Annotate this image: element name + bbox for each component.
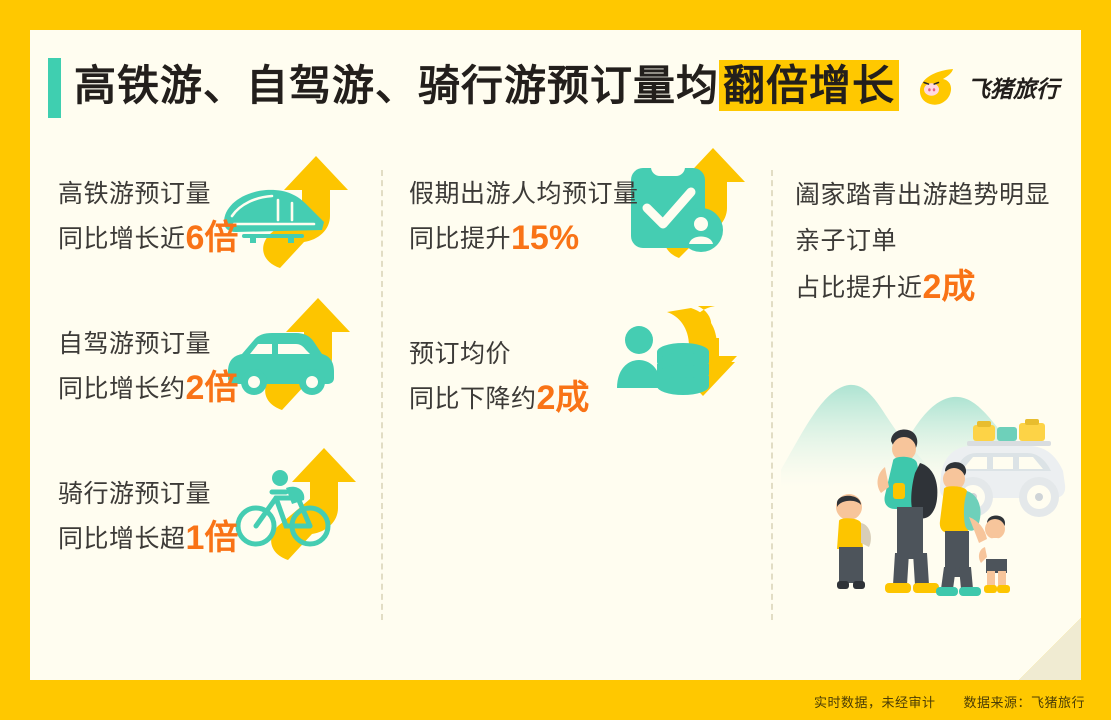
stat-line-1: 假期出游人均预订量 xyxy=(409,172,639,216)
content-card: 高铁游、自驾游、骑行游预订量均翻倍增长 飞猪旅行 xyxy=(30,30,1081,680)
stat-line-1: 高铁游预订量 xyxy=(58,172,238,216)
footer: 实时数据，未经审计 数据来源：飞猪旅行 xyxy=(814,692,1085,711)
column-booking-stats: 假期出游人均预订量 同比提升15% xyxy=(381,142,771,452)
family-with-car-illustration xyxy=(781,367,1081,622)
stat-item: 假期出游人均预订量 同比提升15% xyxy=(381,142,771,292)
fliggy-pig-icon xyxy=(917,68,959,106)
stat-line-2: 同比下降约2成 xyxy=(409,376,589,421)
footer-note: 实时数据，未经审计 xyxy=(814,692,936,711)
page-title: 高铁游、自驾游、骑行游预订量均翻倍增长 xyxy=(74,54,899,118)
stat-text: 自驾游预订量 同比增长约2倍 xyxy=(58,322,238,411)
stat-line-2-prefix: 同比增长近 xyxy=(58,225,186,253)
family-trend-line-3-prefix: 占比提升近 xyxy=(795,274,923,302)
stat-item: 自驾游预订量 同比增长约2倍 xyxy=(30,292,381,442)
stat-value: 1倍 xyxy=(186,519,239,557)
header: 高铁游、自驾游、骑行游预订量均翻倍增长 飞猪旅行 xyxy=(30,42,1081,128)
page-title-plain: 高铁游、自驾游、骑行游预订量均 xyxy=(74,62,719,109)
car-up-arrow-icon xyxy=(220,296,360,421)
footer-source: 数据来源：飞猪旅行 xyxy=(963,692,1085,711)
family-trend-line-3: 占比提升近2成 xyxy=(795,264,1050,311)
family-trend-line-2: 亲子订单 xyxy=(795,218,1050,264)
stat-line-1: 骑行游预订量 xyxy=(58,472,238,516)
stat-line-2: 同比提升15% xyxy=(409,216,639,261)
title-accent-bar xyxy=(48,58,61,118)
stat-line-1: 自驾游预订量 xyxy=(58,322,238,366)
stat-line-2-prefix: 同比提升 xyxy=(409,225,511,253)
stat-line-2-prefix: 同比下降约 xyxy=(409,385,537,413)
stat-line-2: 同比增长超1倍 xyxy=(58,516,238,561)
stat-value: 2倍 xyxy=(186,369,239,407)
stat-line-2-prefix: 同比增长超 xyxy=(58,525,186,553)
family-trend-value: 2成 xyxy=(923,268,976,306)
stat-value: 2成 xyxy=(537,379,590,417)
column-transport-stats: 高铁游预订量 同比增长近6倍 xyxy=(30,142,381,592)
stat-item: 预订均价 同比下降约2成 xyxy=(381,292,771,452)
brand-name: 飞猪旅行 xyxy=(967,70,1059,104)
stat-text: 骑行游预订量 同比增长超1倍 xyxy=(58,472,238,561)
stat-value: 15% xyxy=(511,219,579,257)
family-trend-line-1: 阖家踏青出游趋势明显 xyxy=(795,172,1050,218)
stat-line-2: 同比增长近6倍 xyxy=(58,216,238,261)
clipboard-check-user-up-arrow-icon xyxy=(625,146,755,271)
column-divider-2 xyxy=(771,170,773,620)
stat-line-2: 同比增长约2倍 xyxy=(58,366,238,411)
stat-line-1: 预订均价 xyxy=(409,332,589,376)
stat-item: 高铁游预订量 同比增长近6倍 xyxy=(30,142,381,292)
stat-text: 预订均价 同比下降约2成 xyxy=(409,332,589,421)
stat-line-2-prefix: 同比增长约 xyxy=(58,375,186,403)
high-speed-train-up-arrow-icon xyxy=(218,150,358,275)
infographic-poster: 高铁游、自驾游、骑行游预订量均翻倍增长 飞猪旅行 xyxy=(0,0,1111,720)
stat-text: 高铁游预订量 同比增长近6倍 xyxy=(58,172,238,261)
stat-value: 6倍 xyxy=(186,219,239,257)
bicycle-up-arrow-icon xyxy=(230,448,370,573)
brand-logo: 飞猪旅行 xyxy=(917,68,1059,106)
stat-item: 骑行游预订量 同比增长超1倍 xyxy=(30,442,381,592)
family-trend-text: 阖家踏青出游趋势明显 亲子订单 占比提升近2成 xyxy=(795,172,1050,311)
stats-columns: 高铁游预订量 同比增长近6倍 xyxy=(30,142,1081,642)
page-title-highlight: 翻倍增长 xyxy=(719,60,899,111)
person-coins-down-arrow-icon xyxy=(617,306,757,431)
stat-text: 假期出游人均预订量 同比提升15% xyxy=(409,172,639,261)
